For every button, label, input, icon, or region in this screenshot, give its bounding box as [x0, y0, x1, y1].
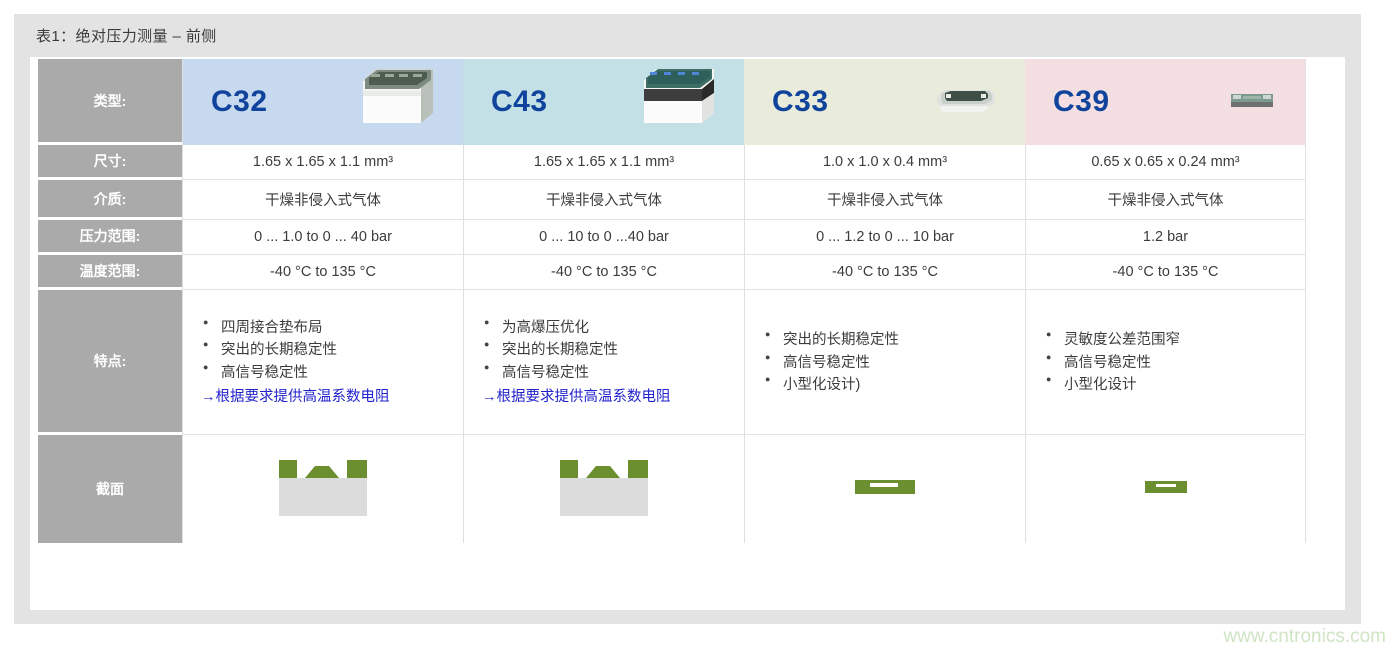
- table-row-type: 类型: C32: [38, 59, 1306, 145]
- cell-temperature-c39: -40 °C to 135 °C: [1025, 255, 1306, 290]
- cell-pressure-c43: 0 ... 10 to 0 ...40 bar: [463, 220, 744, 255]
- cell-size-c43: 1.65 x 1.65 x 1.1 mm³: [463, 145, 744, 180]
- cell-features-c32: 四周接合垫布局 突出的长期稳定性 高信号稳定性 →根据要求提供高温系数电阻: [182, 290, 463, 435]
- feature-note-c32: →根据要求提供高温系数电阻: [201, 386, 453, 409]
- list-item: 突出的长期稳定性: [201, 339, 453, 361]
- list-item: 高信号稳定性: [1044, 352, 1295, 374]
- product-name-c39: C39: [1053, 85, 1110, 119]
- list-item: 高信号稳定性: [201, 362, 453, 384]
- feature-list-c43: 为高爆压优化 突出的长期稳定性 高信号稳定性: [482, 317, 734, 384]
- list-item: 高信号稳定性: [482, 362, 734, 384]
- row-label-cross-section: 截面: [38, 435, 182, 543]
- cell-temperature-c32: -40 °C to 135 °C: [182, 255, 463, 290]
- cell-cross-section-c33: [744, 435, 1025, 543]
- row-label-features: 特点:: [38, 290, 182, 435]
- list-item: 灵敏度公差范围窄: [1044, 329, 1295, 351]
- product-header-c39: C39: [1025, 59, 1306, 145]
- cell-features-c33: 突出的长期稳定性 高信号稳定性 小型化设计): [744, 290, 1025, 435]
- c32-sensor-photo: [359, 67, 437, 137]
- specification-table: 类型: C32: [38, 59, 1306, 543]
- row-label-type: 类型:: [38, 59, 182, 145]
- cross-section-diagram-c43: [558, 452, 650, 526]
- table-row-pressure: 压力范围: 0 ... 1.0 to 0 ... 40 bar 0 ... 10…: [38, 220, 1306, 255]
- list-item: 高信号稳定性: [763, 352, 1015, 374]
- product-header-c43: C43: [463, 59, 744, 145]
- product-name-c43: C43: [491, 85, 548, 119]
- product-name-c32: C32: [211, 85, 268, 119]
- cell-medium-c43: 干燥非侵入式气体: [463, 180, 744, 220]
- feature-list-c39: 灵敏度公差范围窄 高信号稳定性 小型化设计: [1044, 329, 1295, 396]
- table-caption: 表1：绝对压力测量 – 前侧: [36, 25, 217, 46]
- cell-pressure-c32: 0 ... 1.0 to 0 ... 40 bar: [182, 220, 463, 255]
- feature-note-c43: →根据要求提供高温系数电阻: [482, 386, 734, 409]
- cell-size-c32: 1.65 x 1.65 x 1.1 mm³: [182, 145, 463, 180]
- cell-cross-section-c43: [463, 435, 744, 543]
- table-row-medium: 介质: 干燥非侵入式气体 干燥非侵入式气体 干燥非侵入式气体 干燥非侵入式气体: [38, 180, 1306, 220]
- watermark: www.cntronics.com: [1223, 626, 1386, 648]
- list-item: 为高爆压优化: [482, 317, 734, 339]
- row-label-medium: 介质:: [38, 180, 182, 220]
- cell-size-c39: 0.65 x 0.65 x 0.24 mm³: [1025, 145, 1306, 180]
- cell-temperature-c33: -40 °C to 135 °C: [744, 255, 1025, 290]
- table-panel: 表1：绝对压力测量 – 前侧 类型: C32: [14, 14, 1361, 624]
- feature-list-c32: 四周接合垫布局 突出的长期稳定性 高信号稳定性: [201, 317, 453, 384]
- cell-pressure-c33: 0 ... 1.2 to 0 ... 10 bar: [744, 220, 1025, 255]
- row-label-temperature: 温度范围:: [38, 255, 182, 290]
- screenshot-root: 表1：绝对压力测量 – 前侧 类型: C32: [0, 0, 1394, 652]
- product-name-c33: C33: [772, 85, 829, 119]
- cell-size-c33: 1.0 x 1.0 x 0.4 mm³: [744, 145, 1025, 180]
- cross-section-diagram-c33: [853, 476, 917, 502]
- list-item: 小型化设计: [1044, 374, 1295, 396]
- c33-sensor-photo: [933, 82, 999, 122]
- cell-medium-c33: 干燥非侵入式气体: [744, 180, 1025, 220]
- table-row-size: 尺寸: 1.65 x 1.65 x 1.1 mm³ 1.65 x 1.65 x …: [38, 145, 1306, 180]
- cell-pressure-c39: 1.2 bar: [1025, 220, 1306, 255]
- cell-medium-c39: 干燥非侵入式气体: [1025, 180, 1306, 220]
- c43-sensor-photo: [640, 67, 718, 137]
- table-row-features: 特点: 四周接合垫布局 突出的长期稳定性 高信号稳定性 →根据要求提供高温系数电…: [38, 290, 1306, 435]
- table-row-temperature: 温度范围: -40 °C to 135 °C -40 °C to 135 °C …: [38, 255, 1306, 290]
- row-label-pressure: 压力范围:: [38, 220, 182, 255]
- feature-list-c33: 突出的长期稳定性 高信号稳定性 小型化设计): [763, 329, 1015, 396]
- cell-medium-c32: 干燥非侵入式气体: [182, 180, 463, 220]
- cell-cross-section-c32: [182, 435, 463, 543]
- cell-features-c39: 灵敏度公差范围窄 高信号稳定性 小型化设计: [1025, 290, 1306, 435]
- table-caption-tab: 表1：绝对压力测量 – 前侧: [14, 14, 268, 57]
- cross-section-diagram-c39: [1143, 477, 1189, 501]
- cell-features-c43: 为高爆压优化 突出的长期稳定性 高信号稳定性 →根据要求提供高温系数电阻: [463, 290, 744, 435]
- c39-sensor-photo: [1227, 86, 1279, 118]
- list-item: 突出的长期稳定性: [763, 329, 1015, 351]
- list-item: 小型化设计): [763, 374, 1015, 396]
- product-header-c33: C33: [744, 59, 1025, 145]
- cross-section-diagram-c32: [277, 452, 369, 526]
- list-item: 突出的长期稳定性: [482, 339, 734, 361]
- product-header-c32: C32: [182, 59, 463, 145]
- list-item: 四周接合垫布局: [201, 317, 453, 339]
- table-row-cross-section: 截面: [38, 435, 1306, 543]
- row-label-size: 尺寸:: [38, 145, 182, 180]
- cell-temperature-c43: -40 °C to 135 °C: [463, 255, 744, 290]
- cell-cross-section-c39: [1025, 435, 1306, 543]
